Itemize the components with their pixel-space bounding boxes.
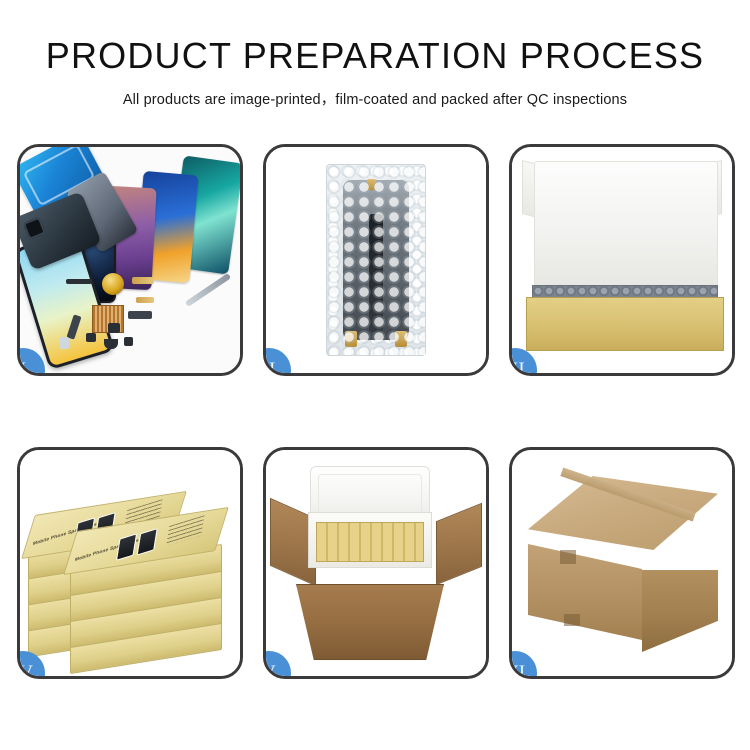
- box-stack: Mobile Phone Spare Parts Mobile Phone Sp…: [28, 468, 232, 654]
- small-chip-4: [124, 337, 133, 346]
- page-subtitle: All products are image-printed，film-coat…: [0, 88, 750, 109]
- camera-module: [104, 339, 118, 349]
- page-title: PRODUCT PREPARATION PROCESS: [0, 38, 750, 74]
- step-image-4: Mobile Phone Spare Parts Mobile Phone Sp…: [20, 450, 240, 676]
- step-panel-4[interactable]: Mobile Phone Spare Parts Mobile Phone Sp…: [17, 447, 243, 679]
- step-badge-3: III: [512, 348, 537, 373]
- step-image-5: V: [266, 450, 486, 676]
- step-image-2: II: [266, 147, 486, 373]
- packed-kraft-boxes: [316, 522, 424, 562]
- step-badge-2: II: [266, 348, 291, 373]
- process-step-grid: I II III: [17, 144, 735, 679]
- bubble-wrap-bag: [326, 164, 426, 356]
- step-badge-5: V: [266, 651, 291, 676]
- box-label-phone-2: [137, 528, 158, 556]
- sim-tray: [60, 337, 69, 349]
- step-panel-2[interactable]: II: [263, 144, 489, 376]
- flex-cable-1: [132, 277, 154, 284]
- step-badge-1: I: [20, 348, 45, 373]
- step-image-3: III: [512, 147, 732, 373]
- page-header: PRODUCT PREPARATION PROCESS All products…: [0, 0, 750, 109]
- tweezer-tool: [185, 273, 231, 307]
- step-panel-6[interactable]: VI: [509, 447, 735, 679]
- kraft-box-tray: [526, 297, 724, 351]
- step-panel-3[interactable]: III: [509, 144, 735, 376]
- carton-flap-right: [436, 503, 482, 586]
- flex-cable-2: [136, 297, 154, 303]
- foam-lid: [534, 161, 718, 291]
- carton-side-face: [642, 570, 718, 652]
- step-panel-1[interactable]: I: [17, 144, 243, 376]
- carton-body: [296, 584, 444, 660]
- carton-front-face: [528, 544, 642, 640]
- small-chip-3: [86, 333, 96, 342]
- small-chip-1: [66, 279, 92, 284]
- wrapped-flex-cable: [369, 214, 383, 332]
- speaker-coil: [102, 273, 124, 295]
- box-label-phone-1: [116, 533, 137, 561]
- small-chip-2: [108, 323, 120, 333]
- box-label-spec-lines: [166, 515, 205, 546]
- connector-right: [395, 331, 407, 347]
- carton-tab-lower: [564, 614, 580, 626]
- connector-left: [345, 331, 357, 347]
- step-panel-5[interactable]: V: [263, 447, 489, 679]
- step-badge-6: VI: [512, 651, 537, 676]
- step-image-6: VI: [512, 450, 732, 676]
- carton-tab-upper: [560, 550, 576, 564]
- connector-top: [367, 179, 376, 190]
- flex-cable-4: [128, 311, 152, 319]
- step-image-1: I: [20, 147, 240, 373]
